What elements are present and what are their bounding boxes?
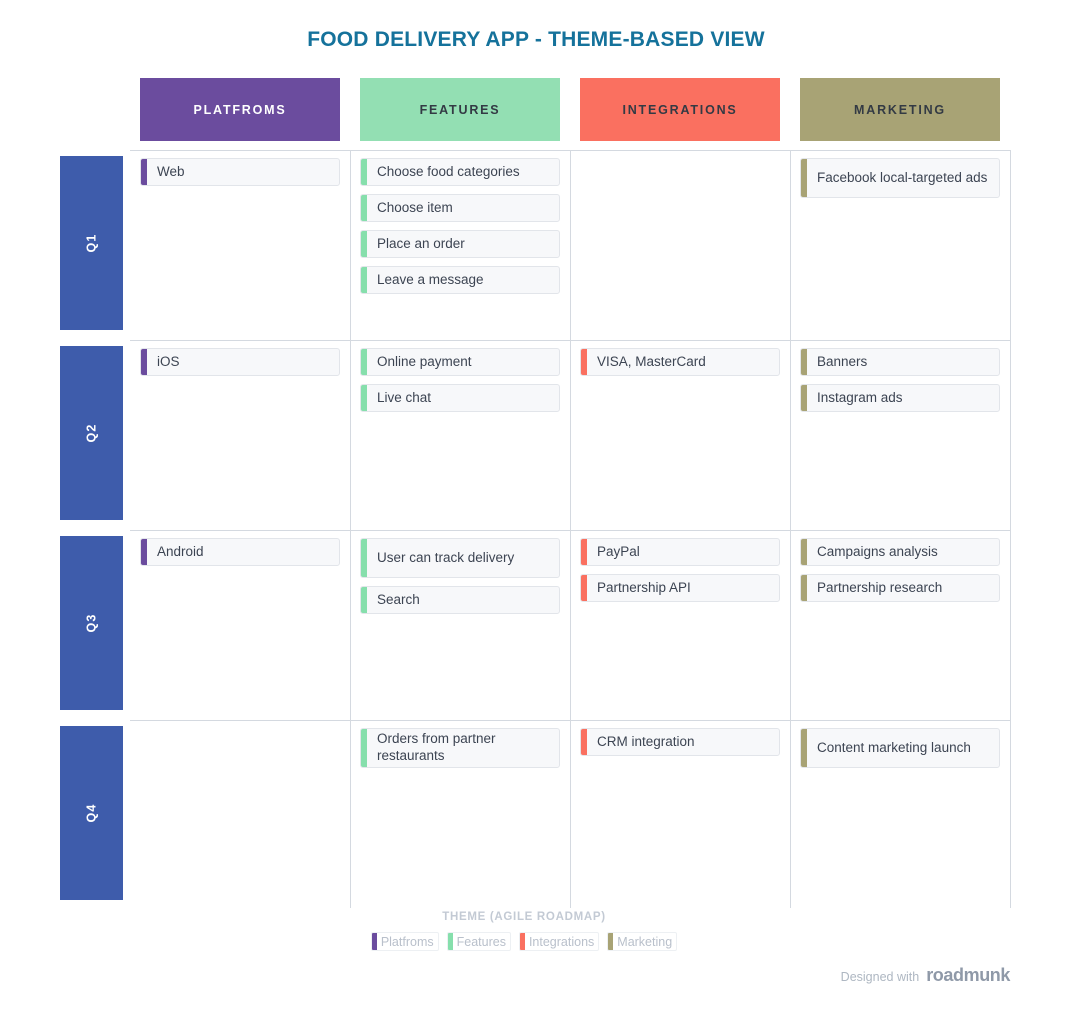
card-label: Choose food categories: [367, 164, 528, 181]
card-label: Orders from partner restaurants: [367, 731, 559, 765]
card-label: Android: [147, 544, 212, 561]
roadmap-card[interactable]: Instagram ads: [800, 384, 1000, 412]
card-label: CRM integration: [587, 734, 703, 751]
quarter-label-q2[interactable]: Q2: [60, 346, 123, 520]
row-divider: [130, 150, 1010, 151]
branding: Designed with roadmunk: [841, 965, 1010, 986]
roadmap-card[interactable]: Partnership API: [580, 574, 780, 602]
card-label: Partnership research: [807, 580, 950, 597]
column-header-features[interactable]: FEATURES: [360, 78, 560, 141]
axis-label: THEME (AGILE ROADMAP): [0, 911, 1048, 923]
column-divider: [1010, 150, 1011, 908]
roadmap-card[interactable]: PayPal: [580, 538, 780, 566]
card-label: Online payment: [367, 354, 480, 371]
column-header-label: MARKETING: [854, 103, 946, 117]
row-divider: [130, 530, 1010, 531]
legend-label: Platfroms: [377, 933, 438, 950]
roadmap-card[interactable]: Online payment: [360, 348, 560, 376]
card-label: Campaigns analysis: [807, 544, 946, 561]
legend-item-platfroms[interactable]: Platfroms: [371, 932, 439, 951]
card-label: Search: [367, 592, 428, 609]
roadmunk-logo: roadmunk: [926, 965, 1010, 986]
roadmap-card[interactable]: Web: [140, 158, 340, 186]
column-header-integrations[interactable]: INTEGRATIONS: [580, 78, 780, 141]
roadmap-card[interactable]: Banners: [800, 348, 1000, 376]
card-label: Web: [147, 164, 193, 181]
card-label: PayPal: [587, 544, 648, 561]
row-divider: [130, 720, 1010, 721]
roadmap-card[interactable]: Leave a message: [360, 266, 560, 294]
card-label: iOS: [147, 354, 188, 371]
quarter-label-q3[interactable]: Q3: [60, 536, 123, 710]
legend-item-integrations[interactable]: Integrations: [519, 932, 599, 951]
column-header-label: FEATURES: [420, 103, 501, 117]
roadmap-card[interactable]: Search: [360, 586, 560, 614]
legend-item-marketing[interactable]: Marketing: [607, 932, 677, 951]
legend-label: Features: [453, 933, 510, 950]
card-label: User can track delivery: [367, 550, 522, 567]
card-label: Live chat: [367, 390, 439, 407]
card-label: Place an order: [367, 236, 473, 253]
card-label: Partnership API: [587, 580, 699, 597]
page-title: FOOD DELIVERY APP - THEME-BASED VIEW: [0, 28, 1072, 52]
roadmap-card[interactable]: Live chat: [360, 384, 560, 412]
legend: PlatfromsFeaturesIntegrationsMarketing: [0, 932, 1048, 951]
legend-item-features[interactable]: Features: [447, 932, 511, 951]
column-divider: [570, 150, 571, 908]
card-label: Choose item: [367, 200, 461, 217]
quarter-label-text: Q2: [84, 423, 98, 442]
card-label: Instagram ads: [807, 390, 911, 407]
column-divider: [350, 150, 351, 908]
card-label: Facebook local-targeted ads: [807, 170, 995, 187]
roadmap-card[interactable]: Place an order: [360, 230, 560, 258]
legend-label: Marketing: [613, 933, 676, 950]
quarter-label-text: Q4: [84, 803, 98, 822]
roadmap-card[interactable]: User can track delivery: [360, 538, 560, 578]
column-header-platforms[interactable]: PLATFROMS: [140, 78, 340, 141]
column-header-label: INTEGRATIONS: [622, 103, 737, 117]
roadmap-card[interactable]: Android: [140, 538, 340, 566]
quarter-label-q1[interactable]: Q1: [60, 156, 123, 330]
roadmap-card[interactable]: Content marketing launch: [800, 728, 1000, 768]
quarter-label-text: Q3: [84, 613, 98, 632]
roadmap-card[interactable]: iOS: [140, 348, 340, 376]
roadmap-card[interactable]: Facebook local-targeted ads: [800, 158, 1000, 198]
legend-label: Integrations: [525, 933, 598, 950]
designed-with-label: Designed with: [841, 970, 920, 984]
column-divider: [790, 150, 791, 908]
card-label: Content marketing launch: [807, 740, 979, 757]
roadmap-card[interactable]: VISA, MasterCard: [580, 348, 780, 376]
roadmap-card[interactable]: Partnership research: [800, 574, 1000, 602]
roadmap-card[interactable]: Orders from partner restaurants: [360, 728, 560, 768]
roadmap-board: PLATFROMSFEATURESINTEGRATIONSMARKETINGQ1…: [60, 78, 1010, 908]
row-divider: [130, 340, 1010, 341]
quarter-label-text: Q1: [84, 233, 98, 252]
roadmap-card[interactable]: Choose food categories: [360, 158, 560, 186]
column-header-marketing[interactable]: MARKETING: [800, 78, 1000, 141]
roadmap-card[interactable]: Choose item: [360, 194, 560, 222]
quarter-label-q4[interactable]: Q4: [60, 726, 123, 900]
card-label: Leave a message: [367, 272, 492, 289]
roadmap-card[interactable]: CRM integration: [580, 728, 780, 756]
roadmap-card[interactable]: Campaigns analysis: [800, 538, 1000, 566]
card-label: Banners: [807, 354, 875, 371]
column-header-label: PLATFROMS: [193, 103, 286, 117]
card-label: VISA, MasterCard: [587, 354, 714, 371]
